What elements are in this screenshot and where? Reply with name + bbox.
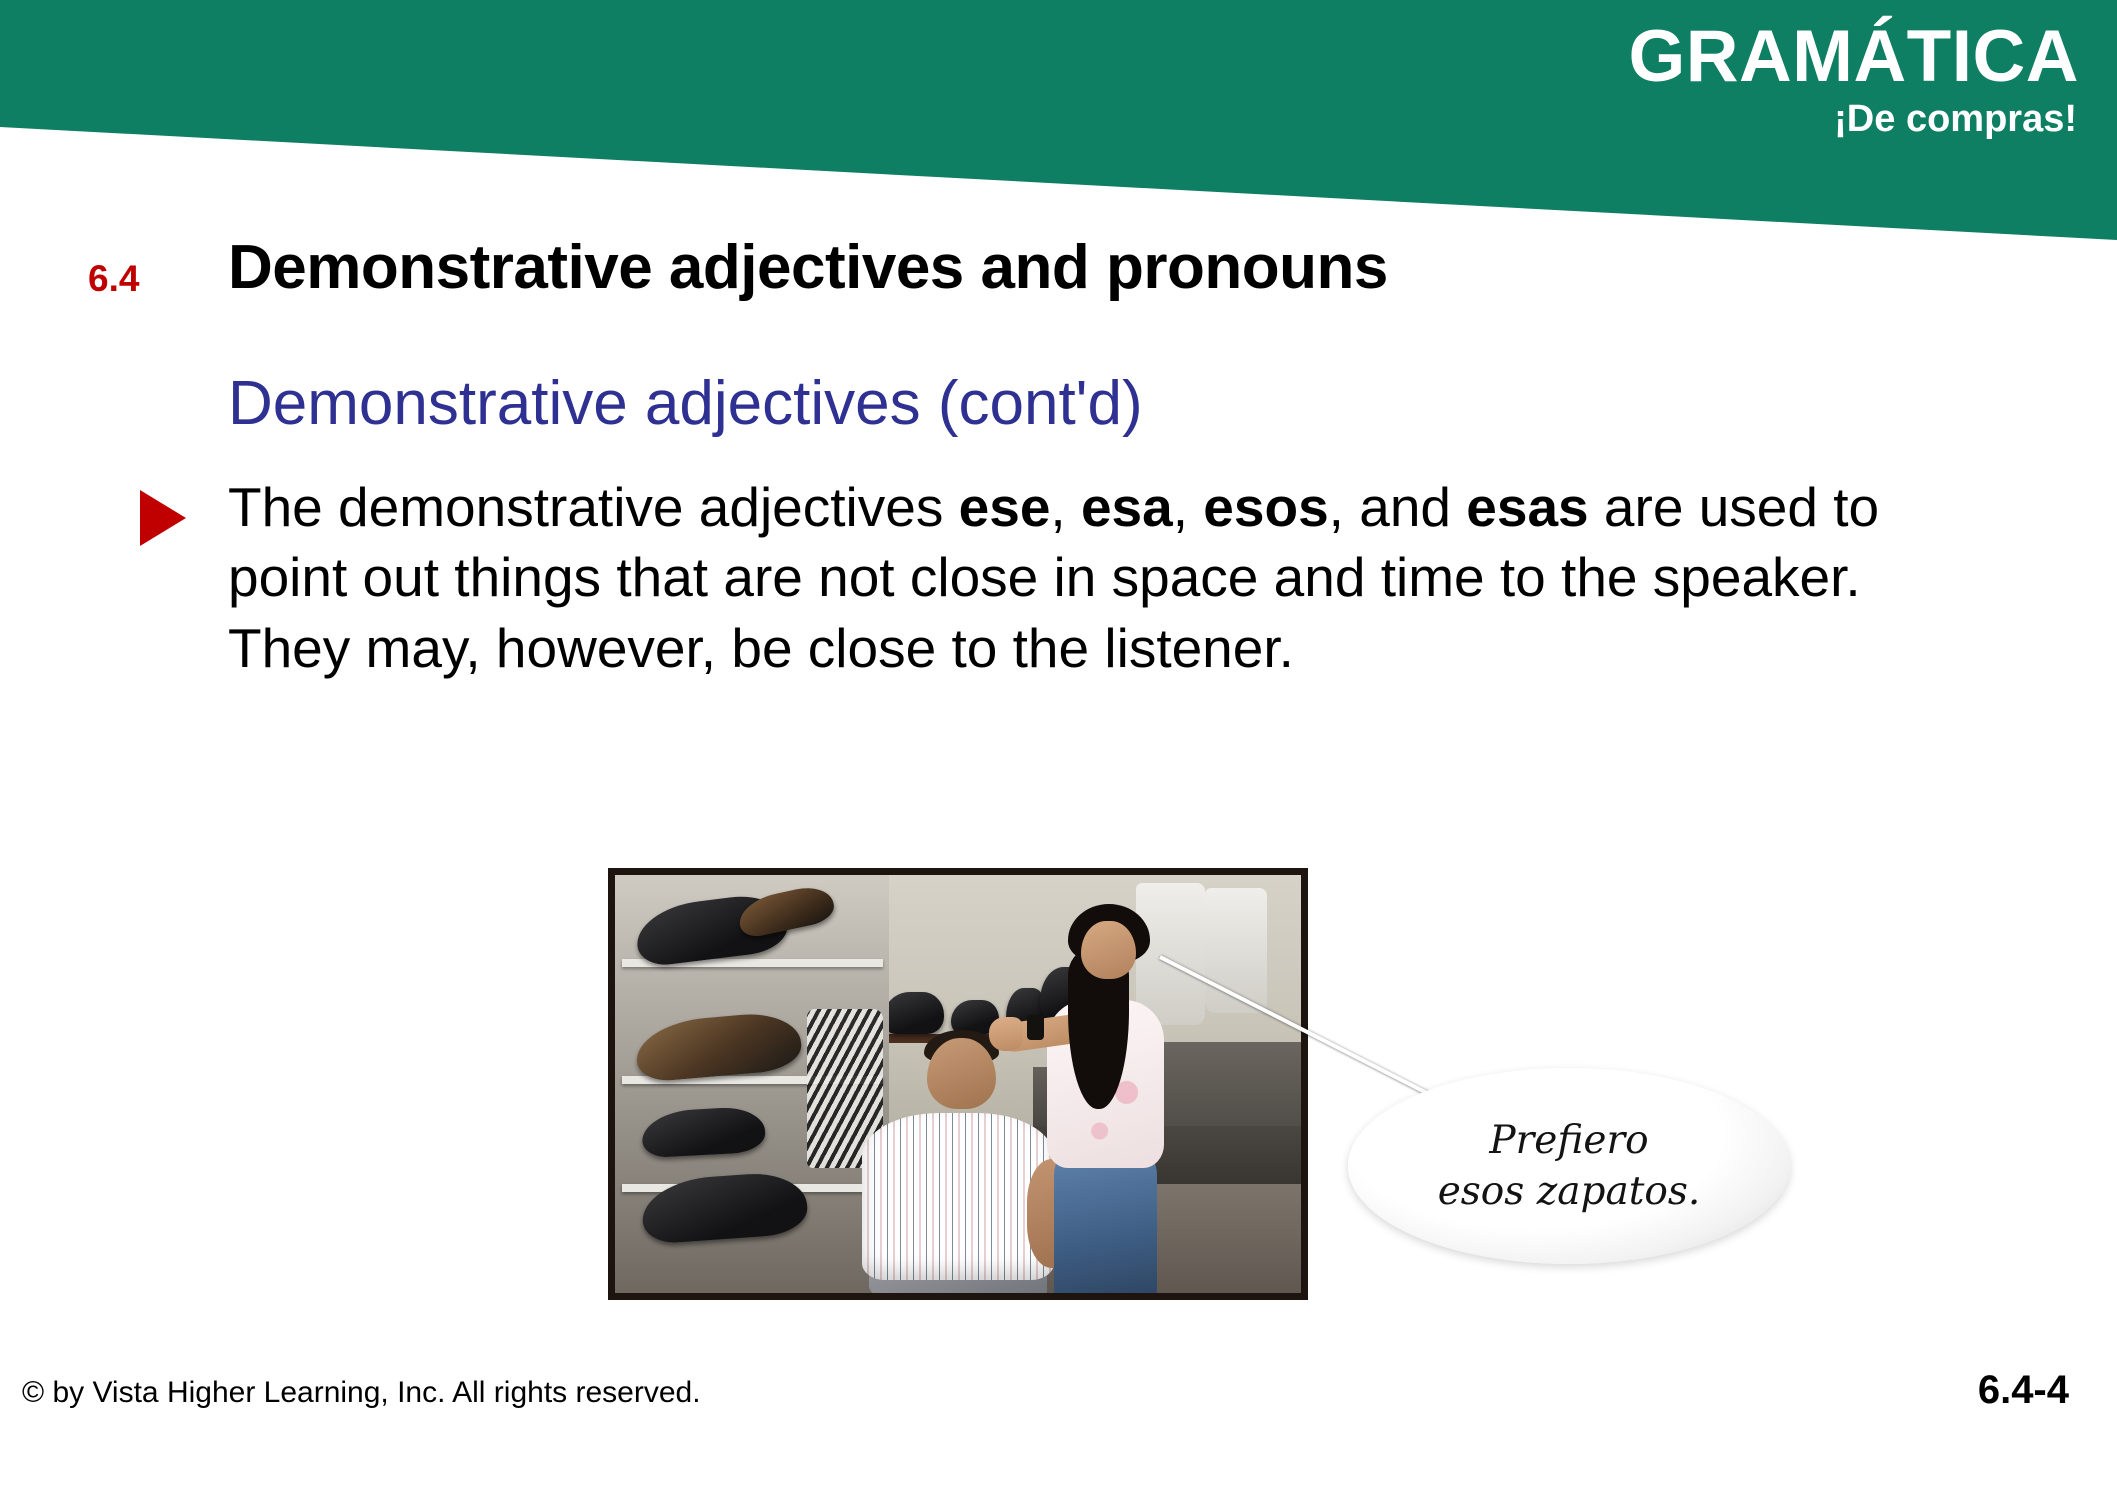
footer-page-number: 6.4-4 bbox=[1978, 1368, 2069, 1413]
speech-bubble-line-1: Prefiero bbox=[1489, 1115, 1648, 1166]
woman-face bbox=[1081, 921, 1136, 980]
hanging-shirt bbox=[1136, 883, 1205, 1025]
triangle-bullet-icon bbox=[140, 490, 186, 546]
woman-hand bbox=[989, 1017, 1023, 1050]
section-number-label: 6.4 bbox=[88, 258, 139, 300]
footer-copyright: © by Vista Higher Learning, Inc. All rig… bbox=[22, 1376, 701, 1410]
woman-jeans bbox=[1054, 1151, 1157, 1300]
speech-bubble: Prefiero esos zapatos. bbox=[1348, 1068, 1790, 1264]
speech-bubble-line-2: esos zapatos. bbox=[1438, 1166, 1701, 1217]
man-shirt bbox=[862, 1113, 1054, 1280]
man-head bbox=[927, 1038, 996, 1109]
header-title: GRAMÁTICA bbox=[1628, 20, 2079, 93]
photo-scene bbox=[615, 875, 1301, 1293]
subheading: Demonstrative adjectives (cont'd) bbox=[228, 368, 1143, 439]
bullet-text: The demonstrative adjectives ese, esa, e… bbox=[228, 472, 1928, 683]
shoe-store-photo bbox=[608, 868, 1308, 1300]
wristwatch bbox=[1027, 1015, 1044, 1040]
page-title: Demonstrative adjectives and pronouns bbox=[228, 232, 1388, 303]
display-shoe bbox=[883, 992, 945, 1034]
header-subtitle: ¡De compras! bbox=[1834, 100, 2077, 138]
